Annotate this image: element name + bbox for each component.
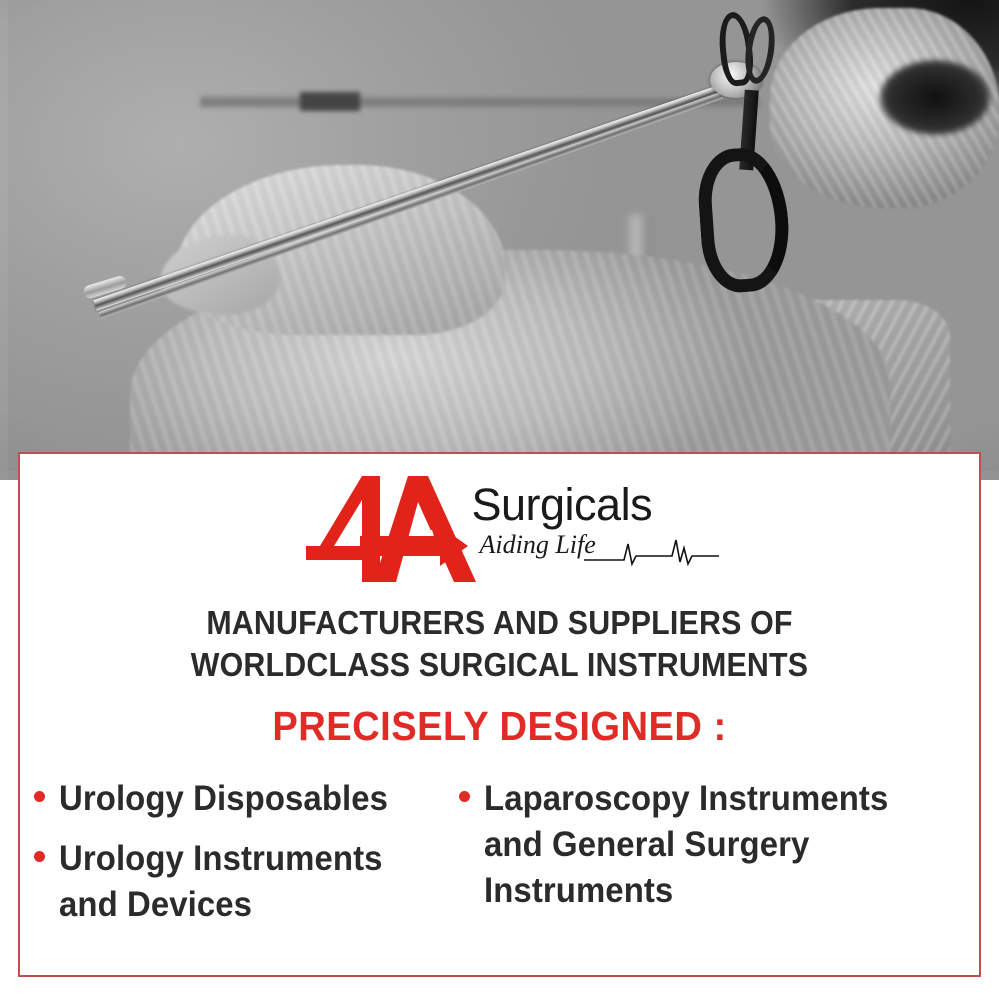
logo-4a-mark-icon (300, 474, 485, 584)
category-column-left: Urology Disposables Urology Instruments … (34, 776, 459, 943)
bullet-dot-icon (34, 851, 45, 862)
category-column-right: Laparoscopy Instruments and General Surg… (459, 776, 973, 929)
list-item: Urology Instruments and Devices (34, 836, 453, 928)
list-item-label: Urology Disposables (59, 776, 388, 822)
logo-brand-name: Surgicals (472, 482, 653, 527)
bullet-dot-icon (34, 791, 45, 802)
list-item-label: Urology Instruments and Devices (59, 836, 429, 928)
headline-line-1: MANUFACTURERS AND SUPPLIERS OF (58, 602, 940, 644)
bullet-dot-icon (459, 791, 470, 802)
headline: MANUFACTURERS AND SUPPLIERS OF WORLDCLAS… (58, 602, 940, 686)
info-card: Surgicals Aiding Life MANUFACTURERS AND … (18, 452, 981, 977)
logo-tagline: Aiding Life (480, 532, 596, 558)
hero-photo (0, 0, 999, 480)
brand-logo: Surgicals Aiding Life (20, 474, 979, 584)
product-banner: Surgicals Aiding Life MANUFACTURERS AND … (0, 0, 999, 1000)
headline-line-2: WORLDCLASS SURGICAL INSTRUMENTS (58, 644, 940, 686)
list-item: Urology Disposables (34, 776, 453, 822)
subheading-precisely-designed: PRECISELY DESIGNED : (54, 706, 946, 747)
product-categories: Urology Disposables Urology Instruments … (20, 776, 979, 943)
heartbeat-line-icon (584, 534, 719, 570)
photo-vignette (0, 0, 999, 480)
list-item: Laparoscopy Instruments and General Surg… (459, 776, 973, 915)
list-item-label: Laparoscopy Instruments and General Surg… (484, 776, 944, 915)
